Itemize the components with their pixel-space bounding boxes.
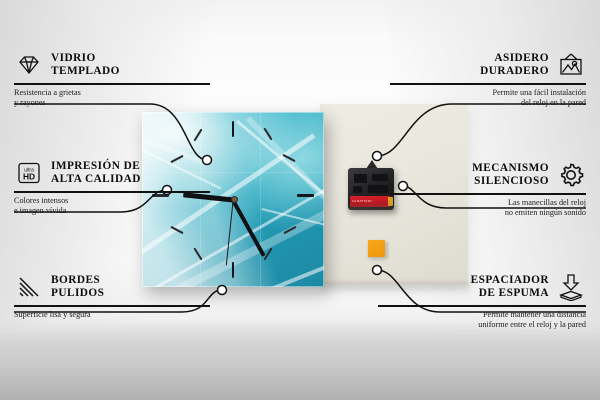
- feature-high-quality-print: ultra HD IMPRESIÓN DE ALTA CALIDAD Color…: [14, 158, 210, 217]
- feature-title-line1: MECANISMO: [472, 162, 549, 174]
- feature-description: Las manecillas del reloj no emiten ningú…: [390, 198, 586, 220]
- feature-desc-line2: del reloj en la pared: [521, 98, 586, 107]
- feature-header: BORDES PULIDOS: [14, 272, 210, 302]
- feature-header: VIDRIO TEMPLADO: [14, 50, 210, 80]
- feature-title-line2: ALTA CALIDAD: [51, 173, 141, 185]
- feature-title-line2: TEMPLADO: [51, 65, 120, 77]
- feature-desc-line2: e imagen vívida: [14, 206, 66, 215]
- connector-hanger: [377, 104, 586, 156]
- connector-endpoint-dot: [218, 286, 227, 295]
- feature-title: ESPACIADOR DE ESPUMA: [471, 274, 549, 300]
- feature-divider: [14, 305, 210, 307]
- feature-durable-hanger: ASIDERO DURADERO Permite una fácil insta…: [390, 50, 586, 109]
- feature-title: VIDRIO TEMPLADO: [51, 52, 120, 78]
- framed-picture-hanging-icon: [556, 50, 586, 80]
- diamond-icon: [14, 50, 44, 80]
- polished-edges-icon: [14, 272, 44, 302]
- feature-title-line1: BORDES: [51, 274, 100, 286]
- feature-title: BORDES PULIDOS: [51, 274, 104, 300]
- feature-title-line2: PULIDOS: [51, 287, 104, 299]
- feature-title: MECANISMO SILENCIOSO: [472, 162, 549, 188]
- feature-title-line1: ESPACIADOR: [471, 274, 549, 286]
- infographic-canvas: AA BATTERY VIDRIO TEMPLA: [0, 0, 600, 400]
- feature-title: ASIDERO DURADERO: [480, 52, 549, 78]
- feature-description: Superficie lisa y segura: [14, 310, 210, 321]
- feature-title-line2: DE ESPUMA: [479, 287, 549, 299]
- feature-title-line2: DURADERO: [480, 65, 549, 77]
- feature-divider: [14, 83, 210, 85]
- feature-tempered-glass: VIDRIO TEMPLADO Resistencia a grietas y …: [14, 50, 210, 109]
- feature-description: Permite mantener una distancia uniforme …: [378, 310, 586, 332]
- gear-icon: [556, 160, 586, 190]
- connector-tempered-glass: [14, 104, 207, 160]
- feature-silent-mechanism: MECANISMO SILENCIOSO Las manecillas del …: [390, 160, 586, 219]
- connector-endpoint-dot: [373, 152, 382, 161]
- ultra-hd-icon: ultra HD: [14, 158, 44, 188]
- feature-desc-line2: y rayones: [14, 98, 46, 107]
- feature-desc-line1: Permite una fácil instalación: [493, 88, 586, 97]
- feature-header: MECANISMO SILENCIOSO: [390, 160, 586, 190]
- feature-desc-line1: Colores intensos: [14, 196, 68, 205]
- feature-title-line1: IMPRESIÓN DE: [51, 160, 140, 172]
- feature-title: IMPRESIÓN DE ALTA CALIDAD: [51, 160, 141, 186]
- feature-header: ultra HD IMPRESIÓN DE ALTA CALIDAD: [14, 158, 210, 188]
- foam-spacer-arrow-icon: [556, 272, 586, 302]
- feature-desc-line1: Las manecillas del reloj: [508, 198, 586, 207]
- feature-desc-line1: Superficie lisa y segura: [14, 310, 91, 319]
- feature-desc-line2: no emiten ningún sonido: [505, 208, 586, 217]
- feature-divider: [378, 305, 586, 307]
- feature-desc-line1: Permite mantener una distancia: [483, 310, 586, 319]
- feature-title-line1: VIDRIO: [51, 52, 96, 64]
- feature-desc-line1: Resistencia a grietas: [14, 88, 81, 97]
- feature-title-line1: ASIDERO: [494, 52, 549, 64]
- feature-title-line2: SILENCIOSO: [474, 175, 549, 187]
- feature-polished-edges: BORDES PULIDOS Superficie lisa y segura: [14, 272, 210, 320]
- svg-text:HD: HD: [23, 172, 35, 182]
- feature-desc-line2: uniforme entre el reloj y la pared: [478, 320, 586, 329]
- feature-divider: [390, 193, 586, 195]
- feature-header: ASIDERO DURADERO: [390, 50, 586, 80]
- feature-divider: [390, 83, 586, 85]
- feature-foam-spacer: ESPACIADOR DE ESPUMA Permite mantener un…: [378, 272, 586, 331]
- feature-description: Colores intensos e imagen vívida: [14, 196, 210, 218]
- feature-header: ESPACIADOR DE ESPUMA: [378, 272, 586, 302]
- feature-divider: [14, 191, 210, 193]
- feature-description: Permite una fácil instalación del reloj …: [390, 88, 586, 110]
- feature-description: Resistencia a grietas y rayones: [14, 88, 210, 110]
